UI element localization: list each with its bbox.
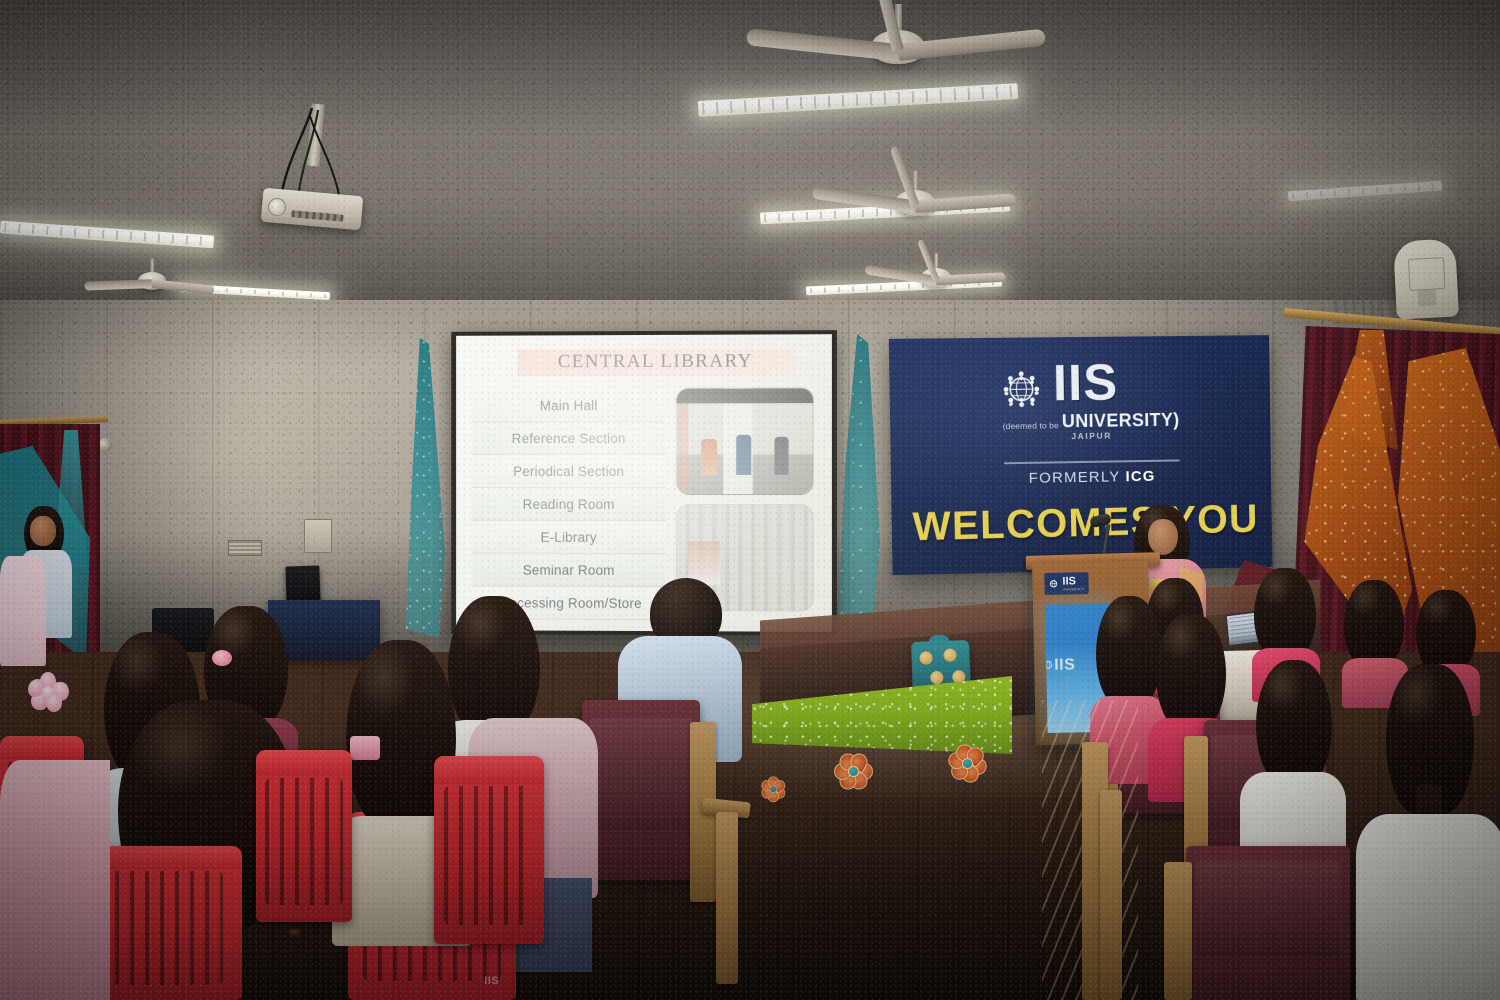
banner-formerly-name: ICG [1125, 468, 1155, 485]
chair-red[interactable] [434, 756, 544, 944]
plaque-subtext: UNIVERSITY [1063, 587, 1085, 591]
plaque-globe-icon [1047, 578, 1059, 590]
chair-armrest [1164, 862, 1192, 1000]
podium-display-mark: IIS [1054, 656, 1075, 674]
wall-knob-icon [98, 438, 112, 452]
wall-vent-icon [228, 540, 262, 556]
slide-photo-library-counter [676, 388, 814, 496]
slide-list-item: Periodical Section [472, 456, 666, 488]
banner-divider [1004, 459, 1179, 463]
slide-list-item: Main Hall [472, 390, 666, 422]
audience-person [0, 760, 110, 1000]
flower-decoration-icon [832, 750, 874, 792]
podium-iis-plaque: IIS UNIVERSITY [1044, 572, 1088, 595]
plaque-acronym: IIS [1062, 576, 1085, 587]
air-conditioner-icon [1393, 238, 1459, 319]
chair-leg [1100, 790, 1122, 1000]
chair-red[interactable] [256, 750, 352, 922]
flower-decoration-icon [759, 775, 787, 803]
audience-person-standing [0, 556, 50, 666]
banner-formerly-prefix: FORMERLY [1029, 468, 1121, 487]
iis-logo-lockup: IIS (deemed to be UNIVERSITY) JAIPUR [990, 358, 1191, 457]
chair-stencil: IIS [484, 975, 499, 987]
iis-globe-logo-icon [998, 366, 1044, 412]
hair-clip-icon [350, 736, 380, 760]
audience-person [1356, 664, 1500, 1000]
chair-leg [716, 812, 738, 984]
banner-formerly-line: FORMERLY ICG [1004, 467, 1180, 487]
hair-clip-icon [212, 650, 232, 666]
ceiling-shading [0, 0, 1500, 330]
podium-display-globe-icon [1045, 659, 1054, 671]
av-control-monitor [285, 565, 320, 604]
banner-city: JAIPUR [991, 429, 1190, 442]
slide-list-item: Reference Section [472, 423, 666, 455]
ceiling [0, 0, 1500, 330]
slide-list-item: E-Library [472, 522, 666, 554]
slide-title-band: CENTRAL LIBRARY [518, 348, 794, 376]
flower-hair-accessory-icon [28, 672, 70, 712]
iis-welcome-banner: IIS (deemed to be UNIVERSITY) JAIPUR FOR… [889, 335, 1273, 575]
chair-maroon[interactable] [582, 700, 700, 880]
chair-maroon[interactable] [1186, 846, 1350, 1000]
flower-decoration-icon [946, 742, 988, 784]
wall-socket-icon[interactable] [304, 519, 332, 553]
slide-list-item: Reading Room [472, 489, 666, 521]
slide-title: CENTRAL LIBRARY [518, 350, 794, 373]
auditorium-scene: CENTRAL LIBRARY Main Hall Reference Sect… [0, 0, 1500, 1000]
banner-acronym: IIS [1053, 357, 1119, 409]
